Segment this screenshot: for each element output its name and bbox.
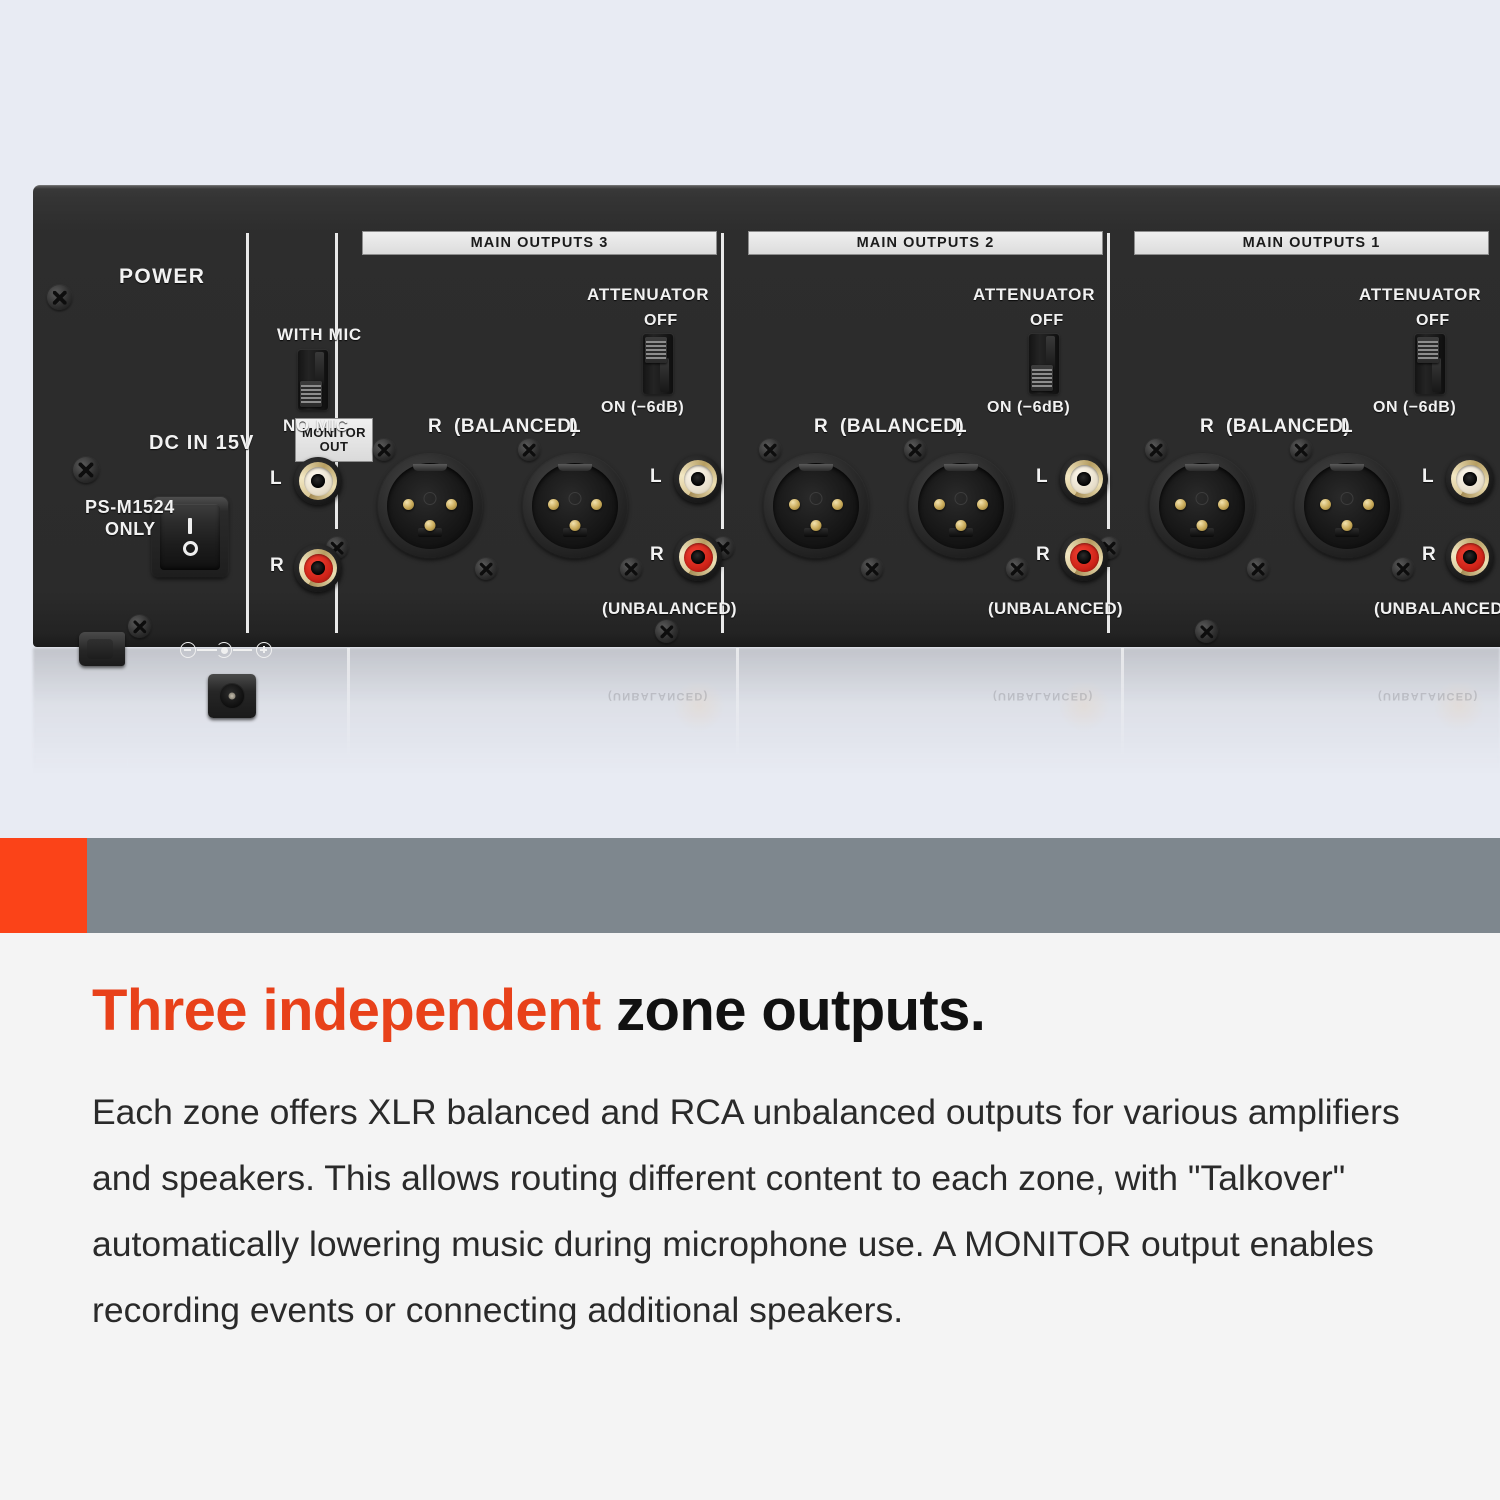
zone1-unbalanced-label: (UNBALANCED) xyxy=(1374,599,1500,619)
xlr-ground-marking xyxy=(1196,492,1209,505)
xlr-mount-screw xyxy=(1392,558,1414,580)
zone3-xlr-left-connector[interactable] xyxy=(523,454,627,558)
xlr-pin xyxy=(956,520,967,531)
chassis-screw xyxy=(128,615,151,638)
monitor-mic-slide-switch[interactable] xyxy=(298,350,328,410)
xlr-pin xyxy=(789,499,800,510)
zone2-unbalanced-label: (UNBALANCED) xyxy=(988,599,1123,619)
zone3-attenuator-switch[interactable] xyxy=(643,334,673,394)
zone1-rca-right-label: R xyxy=(1422,544,1436,566)
section-divider-line xyxy=(1107,233,1110,529)
rca-center-hole xyxy=(1077,550,1091,564)
section-divider-bar xyxy=(0,838,1500,933)
xlr-pin xyxy=(591,499,602,510)
zone2-balanced-label: (BALANCED) xyxy=(840,416,964,438)
reflection-unbalanced-text: (UNBALANCED) xyxy=(993,690,1094,702)
zone3-rca-left-jack[interactable] xyxy=(674,455,722,503)
xlr-pin xyxy=(446,499,457,510)
switch-stem xyxy=(660,358,669,392)
xlr-ground-marking xyxy=(1341,492,1354,505)
headline-highlight: Three independent xyxy=(92,978,601,1043)
monitor-no-mic-label: NO MIC xyxy=(283,416,349,436)
reflection-unbalanced-text: (UNBALANCED) xyxy=(608,690,709,702)
xlr-pin xyxy=(934,499,945,510)
dc-polarity-diagram xyxy=(180,640,272,660)
xlr-pin xyxy=(1175,499,1186,510)
polarity-line xyxy=(233,649,252,651)
zone1-rca-right-jack[interactable] xyxy=(1446,533,1494,581)
xlr-barrel xyxy=(773,463,859,549)
xlr-pin xyxy=(832,499,843,510)
rca-gold-ring xyxy=(679,460,717,498)
xlr-mount-screw xyxy=(1247,558,1269,580)
zone1-rca-left-jack[interactable] xyxy=(1446,455,1494,503)
xlr-latch xyxy=(799,464,833,471)
cable-clamp-bracket xyxy=(79,632,125,666)
psu-restriction-line1: PS-M1524 xyxy=(85,497,175,518)
marketing-copy-section: Three independent zone outputs. Each zon… xyxy=(0,933,1500,1500)
xlr-pin xyxy=(1320,499,1331,510)
switch-knob[interactable] xyxy=(645,337,667,363)
zone2-rca-left-label: L xyxy=(1036,466,1048,488)
zone3-balanced-label: (BALANCED) xyxy=(454,416,578,438)
rca-center-hole xyxy=(1463,550,1477,564)
xlr-pin xyxy=(403,499,414,510)
zone2-xlr-left-connector[interactable] xyxy=(909,454,1013,558)
switch-knob[interactable] xyxy=(300,381,322,407)
rca-white-insulator xyxy=(1456,465,1485,494)
xlr-pin xyxy=(811,520,822,531)
monitor-rca-right-jack[interactable] xyxy=(294,544,342,592)
switch-stem xyxy=(1432,358,1441,392)
xlr-pin xyxy=(570,520,581,531)
rca-red-insulator xyxy=(684,543,713,572)
body-paragraph: Each zone offers XLR balanced and RCA un… xyxy=(92,1079,1460,1343)
rca-gold-ring xyxy=(299,462,337,500)
xlr-barrel xyxy=(1159,463,1245,549)
zone2-attenuator-off-label: OFF xyxy=(1030,312,1064,330)
xlr-latch xyxy=(413,464,447,471)
xlr-pin xyxy=(1342,520,1353,531)
switch-knob[interactable] xyxy=(1031,365,1053,391)
power-label: POWER xyxy=(119,265,205,289)
product-photo-stage: (UNBALANCED) (UNBALANCED) (UNBALANCED) P… xyxy=(0,0,1500,838)
rca-center-hole xyxy=(311,561,325,575)
xlr-pin xyxy=(548,499,559,510)
chassis-screw xyxy=(73,457,99,483)
zone3-attenuator-off-label: OFF xyxy=(644,312,678,330)
rca-center-hole xyxy=(691,550,705,564)
zone3-rca-left-label: L xyxy=(650,466,662,488)
zone2-attenuator-label: ATTENUATOR xyxy=(973,285,1095,305)
zone1-balanced-label: (BALANCED) xyxy=(1226,416,1350,438)
polarity-minus-icon xyxy=(180,642,196,658)
rca-white-insulator xyxy=(304,467,333,496)
monitor-rca-right-label: R xyxy=(270,555,284,577)
zone3-attenuator-label: ATTENUATOR xyxy=(587,285,709,305)
rca-gold-ring xyxy=(1451,460,1489,498)
mixer-rear-panel: POWER DC IN 15V PS-M1524 ONLY MONITOR xyxy=(33,185,1500,647)
xlr-barrel xyxy=(918,463,1004,549)
chassis-screw xyxy=(47,285,72,310)
dc-jack-center-pin xyxy=(229,693,236,700)
xlr-pin xyxy=(425,520,436,531)
polarity-line xyxy=(197,649,217,651)
rca-gold-ring xyxy=(679,538,717,576)
xlr-mount-screw xyxy=(1006,558,1028,580)
xlr-latch xyxy=(1330,464,1364,471)
zone2-rca-left-jack[interactable] xyxy=(1060,455,1108,503)
zone3-balanced-left-label: L xyxy=(569,416,581,438)
monitor-rca-left-label: L xyxy=(270,468,282,490)
xlr-latch xyxy=(558,464,592,471)
reflection-divider-line xyxy=(347,648,350,758)
xlr-mount-screw xyxy=(373,439,395,461)
xlr-pin xyxy=(1218,499,1229,510)
xlr-mount-screw xyxy=(904,439,926,461)
reflection-divider-line xyxy=(1121,648,1124,758)
dc-in-label: DC IN 15V xyxy=(149,432,255,455)
xlr-latch xyxy=(1185,464,1219,471)
xlr-mount-screw xyxy=(759,439,781,461)
reflection-jack-glow xyxy=(1058,680,1110,732)
rca-gold-ring xyxy=(1065,460,1103,498)
reflection-unbalanced-text: (UNBALANCED) xyxy=(1378,690,1479,702)
chassis-screw xyxy=(655,620,678,643)
zone2-balanced-left-label: L xyxy=(955,416,967,438)
zone3-rca-right-label: R xyxy=(650,544,664,566)
zone3-unbalanced-label: (UNBALANCED) xyxy=(602,599,737,619)
section-divider-line xyxy=(721,233,724,529)
headline: Three independent zone outputs. xyxy=(92,977,1412,1044)
polarity-plus-icon xyxy=(256,642,272,658)
xlr-mount-screw xyxy=(861,558,883,580)
rca-center-hole xyxy=(1077,472,1091,486)
rca-center-hole xyxy=(1463,472,1477,486)
headline-rest: zone outputs. xyxy=(601,978,986,1043)
zone1-header-plate: MAIN OUTPUTS 1 xyxy=(1134,231,1489,255)
zone2-attenuator-on-label: ON (−6dB) xyxy=(987,399,1070,417)
dc-power-jack[interactable] xyxy=(208,674,256,718)
rca-gold-ring xyxy=(1451,538,1489,576)
zone2-rca-right-label: R xyxy=(1036,544,1050,566)
xlr-latch xyxy=(944,464,978,471)
rca-gold-ring xyxy=(1065,538,1103,576)
switch-knob[interactable] xyxy=(1417,337,1439,363)
xlr-mount-screw xyxy=(475,558,497,580)
xlr-barrel xyxy=(387,463,473,549)
zone3-xlr-right-connector[interactable] xyxy=(378,454,482,558)
zone3-rca-right-jack[interactable] xyxy=(674,533,722,581)
monitor-with-mic-label: WITH MIC xyxy=(277,325,362,345)
xlr-mount-screw xyxy=(1145,439,1167,461)
monitor-rca-left-jack[interactable] xyxy=(294,457,342,505)
xlr-pin xyxy=(977,499,988,510)
divider-accent-block xyxy=(0,838,87,933)
xlr-ground-marking xyxy=(810,492,823,505)
zone1-attenuator-switch[interactable] xyxy=(1415,334,1445,394)
zone1-xlr-right-connector[interactable] xyxy=(1150,454,1254,558)
zone3-attenuator-on-label: ON (−6dB) xyxy=(601,399,684,417)
zone2-xlr-right-connector[interactable] xyxy=(764,454,868,558)
zone1-attenuator-label: ATTENUATOR xyxy=(1359,285,1481,305)
zone1-attenuator-off-label: OFF xyxy=(1416,312,1450,330)
rca-center-hole xyxy=(691,472,705,486)
zone2-header-plate: MAIN OUTPUTS 2 xyxy=(748,231,1103,255)
xlr-barrel xyxy=(1304,463,1390,549)
zone3-balanced-right-label: R xyxy=(428,416,442,438)
polarity-center-pin-icon xyxy=(216,642,234,658)
xlr-mount-screw xyxy=(620,558,642,580)
xlr-mount-screw xyxy=(518,439,540,461)
rca-red-insulator xyxy=(1070,543,1099,572)
zone1-attenuator-on-label: ON (−6dB) xyxy=(1373,399,1456,417)
rca-red-insulator xyxy=(1456,543,1485,572)
power-on-marking xyxy=(188,518,192,534)
zone2-balanced-right-label: R xyxy=(814,416,828,438)
xlr-mount-screw xyxy=(1290,439,1312,461)
chassis-screw xyxy=(1195,620,1218,643)
zone1-balanced-right-label: R xyxy=(1200,416,1214,438)
psu-restriction-line2: ONLY xyxy=(105,519,156,540)
zone1-xlr-left-connector[interactable] xyxy=(1295,454,1399,558)
rca-gold-ring xyxy=(299,549,337,587)
rca-white-insulator xyxy=(684,465,713,494)
power-off-marking xyxy=(183,541,198,556)
rca-center-hole xyxy=(311,474,325,488)
xlr-pin xyxy=(1197,520,1208,531)
rca-white-insulator xyxy=(1070,465,1099,494)
zone2-attenuator-switch[interactable] xyxy=(1029,334,1059,394)
xlr-ground-marking xyxy=(955,492,968,505)
xlr-ground-marking xyxy=(569,492,582,505)
xlr-barrel xyxy=(532,463,618,549)
zone1-rca-left-label: L xyxy=(1422,466,1434,488)
reflection-jack-glow xyxy=(1433,680,1485,732)
zone3-header-plate: MAIN OUTPUTS 3 xyxy=(362,231,717,255)
reflection-jack-glow xyxy=(673,680,725,732)
xlr-pin xyxy=(1363,499,1374,510)
device-reflection-details: (UNBALANCED) (UNBALANCED) (UNBALANCED) xyxy=(33,648,1500,798)
zone1-balanced-left-label: L xyxy=(1341,416,1353,438)
reflection-divider-line xyxy=(736,648,739,758)
xlr-ground-marking xyxy=(424,492,437,505)
monitor-out-line2: OUT xyxy=(320,440,349,454)
rca-red-insulator xyxy=(304,554,333,583)
divider-gray-block xyxy=(87,838,1500,933)
zone2-rca-right-jack[interactable] xyxy=(1060,533,1108,581)
